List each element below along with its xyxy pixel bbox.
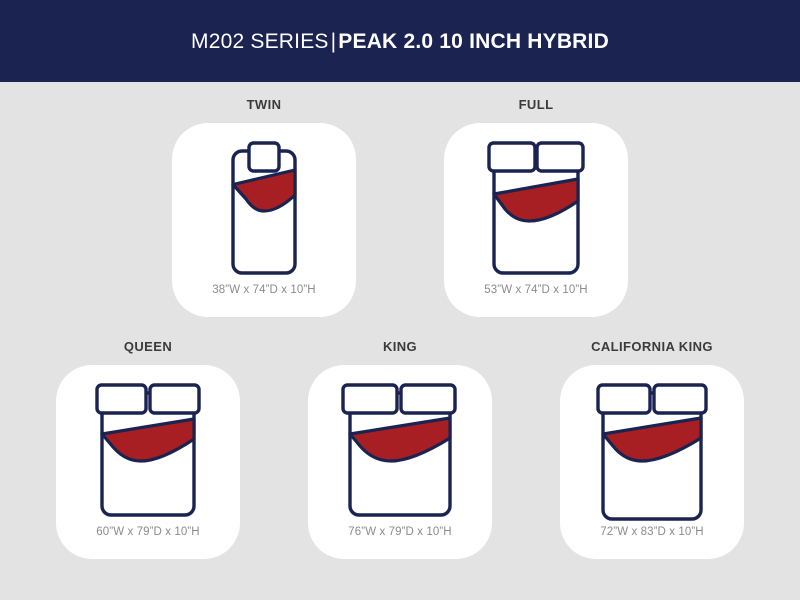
size-row-bottom: QUEEN 60”W x 79”D x 10”H KING	[0, 338, 800, 559]
size-card-king[interactable]: 76”W x 79”D x 10”H	[308, 365, 492, 559]
size-label-king: KING	[383, 338, 417, 356]
size-cell-twin[interactable]: TWIN 38”W x 74”D x 10”H	[159, 96, 369, 317]
size-cell-full[interactable]: FULL 53”W x 74”D x 10”H	[431, 96, 641, 317]
bed-illustration-full	[481, 139, 591, 279]
size-cell-king[interactable]: KING 76”W x 79”D x 10”H	[295, 338, 505, 559]
bed-size-grid: TWIN 38”W x 74”D x 10”H	[0, 82, 800, 600]
title-separator: |	[329, 30, 339, 53]
size-row-top: TWIN 38”W x 74”D x 10”H	[0, 96, 800, 317]
size-label-california-king: CALIFORNIA KING	[591, 338, 713, 356]
size-cell-queen[interactable]: QUEEN 60”W x 79”D x 10”H	[43, 338, 253, 559]
size-card-twin[interactable]: 38”W x 74”D x 10”H	[172, 123, 356, 317]
size-card-queen[interactable]: 60”W x 79”D x 10”H	[56, 365, 240, 559]
size-dimensions-king: 76”W x 79”D x 10”H	[308, 526, 492, 538]
product-label: PEAK 2.0 10 INCH HYBRID	[338, 30, 609, 53]
bed-illustration-queen	[89, 381, 207, 521]
size-dimensions-queen: 60”W x 79”D x 10”H	[56, 526, 240, 538]
bed-illustration-california-king	[590, 381, 714, 521]
page-title: M202 SERIES|PEAK 2.0 10 INCH HYBRID	[191, 31, 609, 52]
size-dimensions-full: 53”W x 74”D x 10”H	[444, 284, 628, 296]
series-label: M202 SERIES	[191, 30, 329, 53]
size-cell-california-king[interactable]: CALIFORNIA KING 72”W x 83”D x 10”H	[547, 338, 757, 559]
size-card-full[interactable]: 53”W x 74”D x 10”H	[444, 123, 628, 317]
bed-illustration-king	[337, 381, 463, 521]
size-label-queen: QUEEN	[124, 338, 172, 356]
size-label-twin: TWIN	[247, 96, 282, 114]
size-card-california-king[interactable]: 72”W x 83”D x 10”H	[560, 365, 744, 559]
header-bar: M202 SERIES|PEAK 2.0 10 INCH HYBRID	[0, 0, 800, 82]
size-label-full: FULL	[519, 96, 554, 114]
size-dimensions-california-king: 72”W x 83”D x 10”H	[560, 526, 744, 538]
size-dimensions-twin: 38”W x 74”D x 10”H	[172, 284, 356, 296]
bed-illustration-twin	[216, 139, 312, 279]
